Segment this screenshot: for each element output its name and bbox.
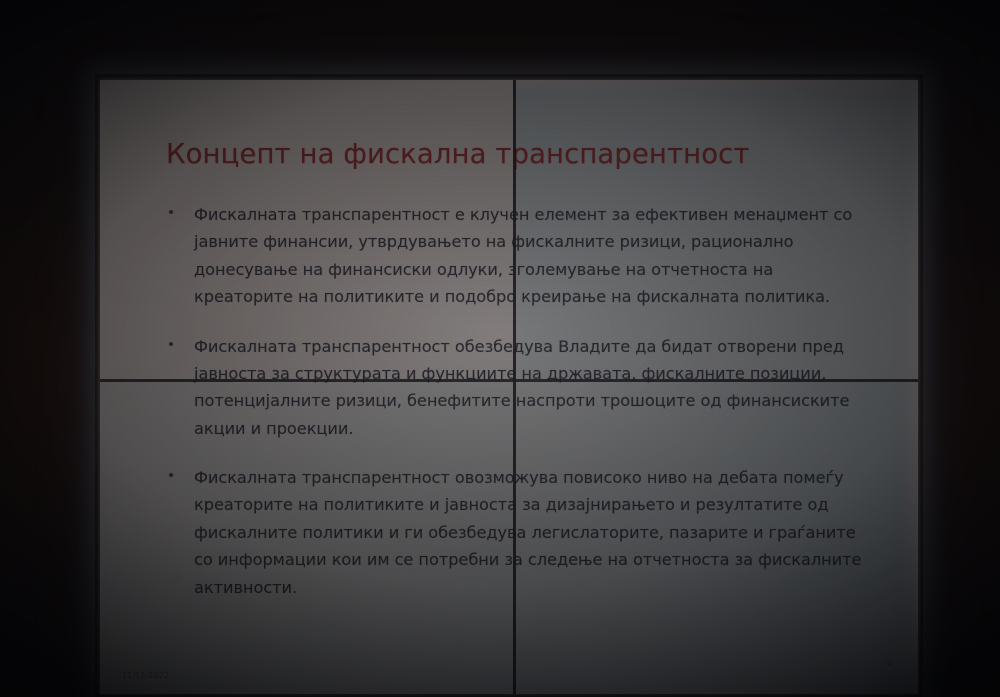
footer-date: 11/15/2022: [122, 671, 169, 680]
photograph-of-projected-slide: Концепт на фискална транспарентност Фиск…: [0, 0, 1000, 697]
bullet-list: Фискалната транспарентност е клучен елем…: [162, 201, 862, 601]
bullet-dot-icon: [169, 473, 173, 477]
slide-content: Концепт на фискална транспарентност Фиск…: [100, 80, 918, 694]
bullet-text-3: Фискалната транспарентност овозможува по…: [194, 464, 862, 601]
bullet-text-2: Фискалната транспарентност обезбедува Вл…: [194, 333, 862, 443]
bullet-text-1: Фискалната транспарентност е клучен елем…: [194, 201, 862, 311]
slide-footer: 11/15/2022 4: [100, 652, 918, 694]
bullet-item-3: Фискалната транспарентност овозможува по…: [166, 464, 862, 601]
footer-slide-number: 4: [887, 659, 892, 668]
presentation-screen: Концепт на фискална транспарентност Фиск…: [100, 80, 918, 694]
bullet-dot-icon: [169, 342, 173, 346]
bullet-item-1: Фискалната транспарентност е клучен елем…: [166, 201, 862, 311]
slide-title: Концепт на фискална транспарентност: [166, 138, 862, 171]
bullet-dot-icon: [169, 210, 173, 214]
bullet-item-2: Фискалната транспарентност обезбедува Вл…: [166, 333, 862, 443]
